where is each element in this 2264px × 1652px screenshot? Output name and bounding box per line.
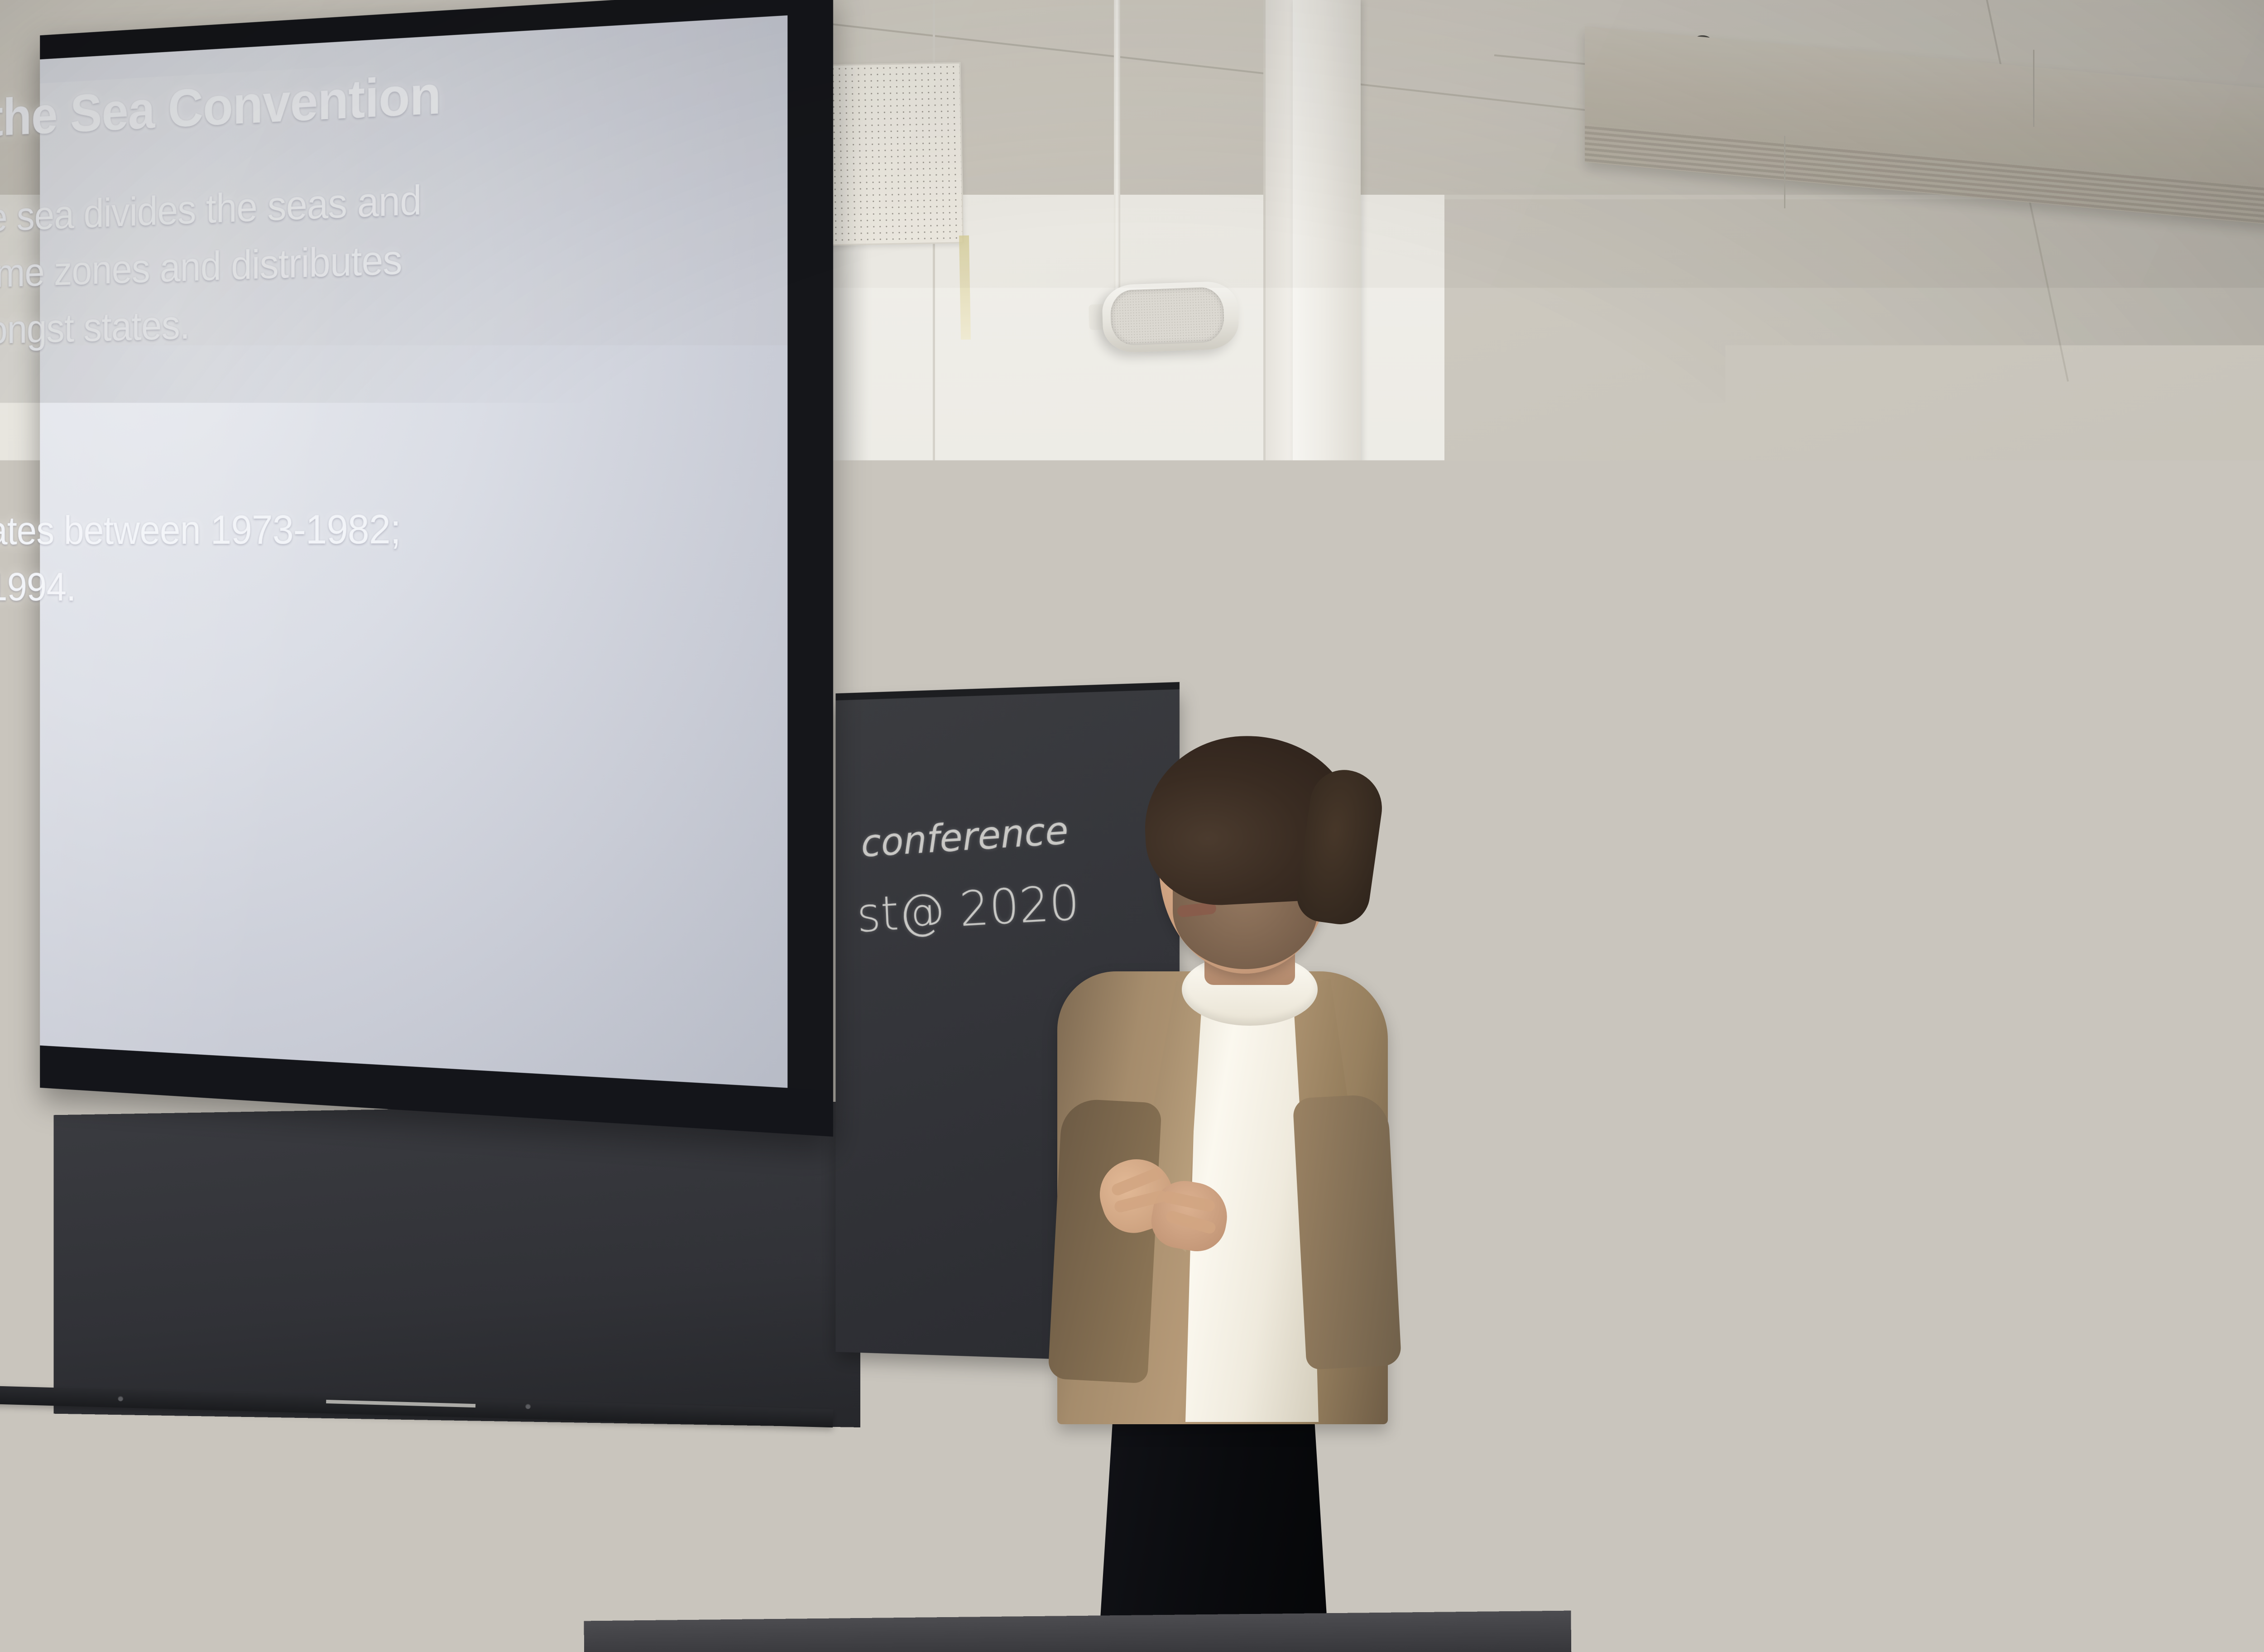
- coffee-cup-1[interactable]: [2049, 1544, 2111, 1652]
- coffee-cup-1-lid[interactable]: [2043, 1536, 2116, 1556]
- av-device: [1490, 1310, 1558, 1331]
- slide-body: e sea divides the seas and ime zones and…: [0, 155, 784, 359]
- antenna-icon: [1431, 1251, 1442, 1267]
- coffee-cup-logo-icon: [2203, 1626, 2221, 1647]
- bottle-wood-base: [1759, 1275, 1816, 1304]
- chalk-text-year: st@ 2020: [856, 875, 1081, 943]
- tape-residue: [959, 235, 971, 340]
- wall-screw: [950, 576, 957, 583]
- lecture-room-photo: conference st@ 2020 the Sea Convention e…: [0, 0, 2264, 1652]
- docking-station[interactable]: [2103, 1241, 2167, 1377]
- slide-body-secondary: ates between 1973-1982; 1994.: [0, 498, 784, 620]
- dispenser-slot: [1629, 1113, 1715, 1125]
- dispenser-paper-sheet: [1636, 1124, 1709, 1151]
- tray-screw: [525, 1403, 531, 1409]
- slide-body-line: ates between 1973-1982;: [0, 498, 784, 559]
- tray-screw: [118, 1396, 123, 1401]
- coffee-cup-2-tab[interactable]: [2231, 1553, 2245, 1571]
- ceiling-hanging-wire: [2033, 50, 2034, 127]
- wall-screw: [949, 539, 956, 546]
- wall-screw: [971, 540, 979, 547]
- projection-screen-surface: the Sea Convention e sea divides the sea…: [40, 15, 787, 1088]
- shelf-knob: [1094, 588, 1126, 599]
- coffee-cup-2-lid[interactable]: [2188, 1553, 2264, 1574]
- bottle-highlight: [1782, 1130, 1788, 1279]
- speaker-arm-right: [1292, 1094, 1401, 1370]
- access-panel-circle: [1031, 1535, 1085, 1594]
- dock-indicator-strip: [2107, 1355, 2161, 1360]
- speaker-arm-left: [1048, 1098, 1162, 1384]
- speaker-grill: [1110, 287, 1225, 346]
- wall-screw: [973, 577, 980, 585]
- blackboard-left-section: [53, 1101, 860, 1427]
- vent-grille-icon: [816, 62, 964, 246]
- bottle-carry-loop[interactable]: [1779, 1077, 1798, 1110]
- slide-title: the Sea Convention: [0, 46, 784, 146]
- paper-towel-dispenser[interactable]: [1597, 914, 1735, 1137]
- projection-screen: the Sea Convention e sea divides the sea…: [40, 0, 833, 1137]
- chalk-stick: [326, 1400, 475, 1407]
- shelf-bracket: [1039, 607, 1053, 631]
- slide-text-block: the Sea Convention e sea divides the sea…: [0, 34, 784, 1061]
- notebook-lifted-page[interactable]: [1586, 1550, 1724, 1632]
- wall-speaker-icon: [1101, 281, 1239, 353]
- ceiling-hanging-wire: [1784, 136, 1785, 208]
- chalk-text-conference: conference: [860, 808, 1069, 866]
- slide-body-line: 1994.: [0, 559, 784, 620]
- ceiling-drop-tube: [1114, 0, 1120, 290]
